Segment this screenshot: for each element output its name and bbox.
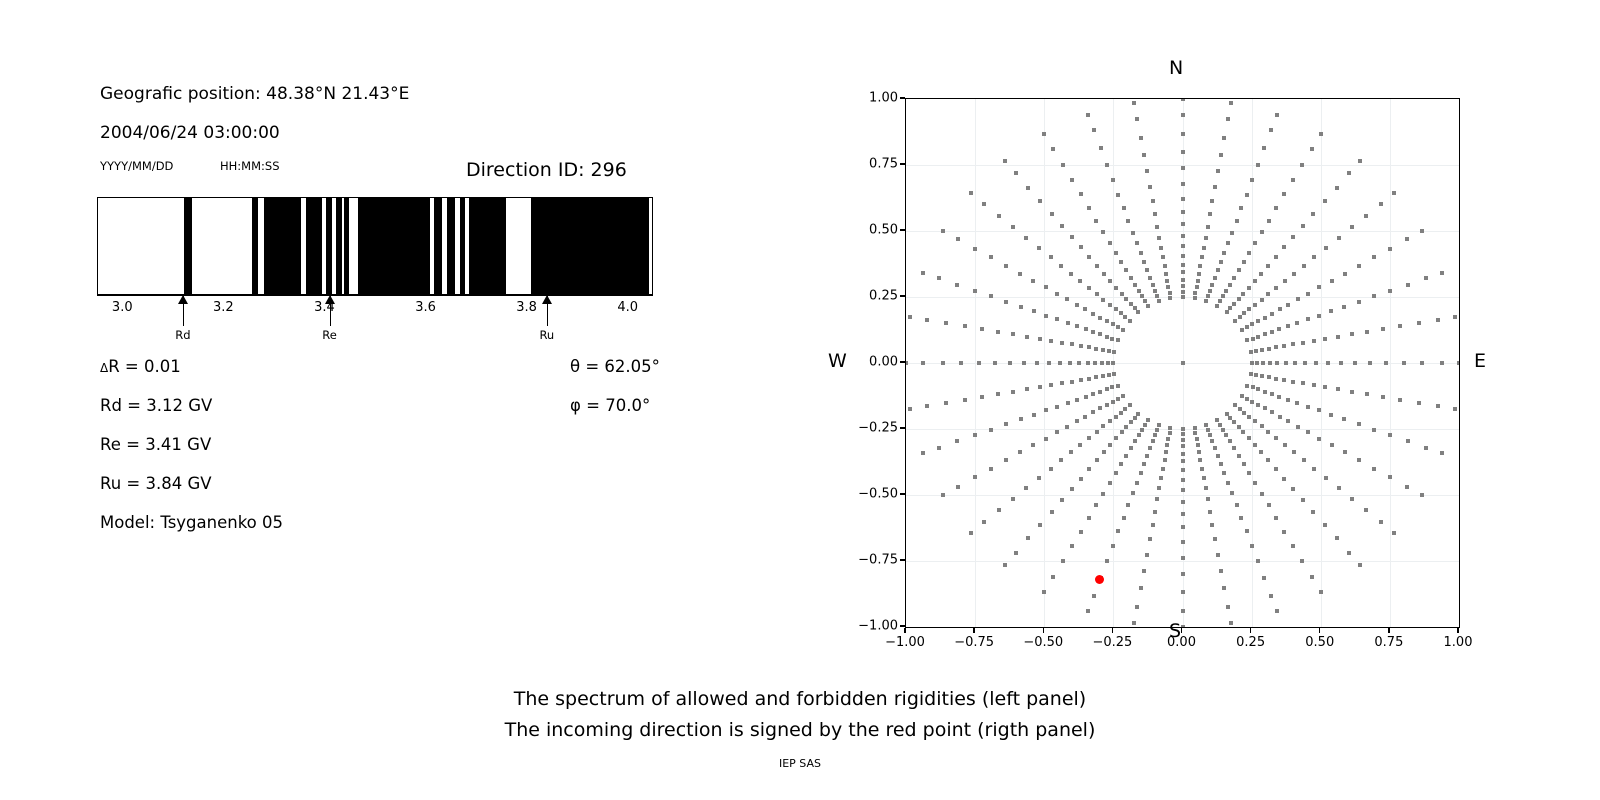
- direction-dot: [1079, 378, 1083, 382]
- direction-dot: [1277, 327, 1281, 331]
- direction-dot: [1181, 98, 1185, 101]
- direction-dot: [1086, 361, 1090, 365]
- direction-dot: [1206, 428, 1210, 432]
- x-tick-mark: [1250, 628, 1251, 633]
- y-tick-label: 1.00: [840, 91, 898, 106]
- direction-dot: [969, 531, 973, 535]
- direction-dot: [1091, 392, 1095, 396]
- direction-dot: [1216, 268, 1220, 272]
- direction-dot: [1077, 361, 1081, 365]
- direction-dot: [1218, 299, 1222, 303]
- direction-dot: [1086, 113, 1090, 117]
- direction-dot: [1221, 428, 1225, 432]
- direction-dot: [1368, 361, 1372, 365]
- direction-dot: [1181, 278, 1185, 282]
- direction-dot: [1335, 536, 1339, 540]
- direction-dot: [1181, 488, 1185, 492]
- direction-dot: [1295, 401, 1299, 405]
- direction-dot: [1042, 132, 1046, 136]
- direction-dot: [1249, 350, 1253, 354]
- direction-dot: [1032, 309, 1036, 313]
- direction-dot: [1251, 337, 1255, 341]
- direction-dot: [1235, 219, 1239, 223]
- direction-dot: [1208, 433, 1212, 437]
- direction-dot: [1114, 471, 1118, 475]
- direction-dot: [1245, 325, 1249, 329]
- direction-dot: [1065, 297, 1069, 301]
- direction-dot: [1100, 361, 1104, 365]
- direction-dot: [1059, 264, 1063, 268]
- direction-dot: [1388, 433, 1392, 437]
- direction-dot: [1116, 193, 1120, 197]
- spectrum-x-tick-label: 3.8: [516, 300, 537, 315]
- forbidden-band: [531, 198, 649, 294]
- direction-dot: [1312, 383, 1316, 387]
- direction-dot: [1218, 423, 1222, 427]
- y-tick-label: 0.25: [840, 289, 898, 304]
- x-tick-label: −0.75: [954, 635, 994, 650]
- direction-dot: [1350, 225, 1354, 229]
- direction-dot: [1306, 430, 1310, 434]
- direction-dot: [1151, 283, 1155, 287]
- direction-dot: [1032, 413, 1036, 417]
- direction-dot: [1079, 477, 1083, 481]
- direction-dot: [1148, 446, 1152, 450]
- direction-dot: [1047, 361, 1051, 365]
- direction-dot: [1098, 390, 1102, 394]
- spectrum-x-tick-label: 4.0: [617, 300, 638, 315]
- direction-dot: [1105, 387, 1109, 391]
- direction-dot: [1226, 605, 1230, 609]
- direction-dot: [1224, 289, 1228, 293]
- y-tick-label: −1.00: [840, 619, 898, 634]
- direction-dot: [1038, 523, 1042, 527]
- forbidden-band: [460, 198, 465, 294]
- direction-dot: [1242, 311, 1246, 315]
- direction-dot: [1075, 324, 1079, 328]
- direction-dot: [1306, 317, 1310, 321]
- direction-dot: [1228, 416, 1232, 420]
- direction-dot: [1286, 324, 1290, 328]
- direction-dot: [963, 398, 967, 402]
- direction-dot: [1114, 307, 1118, 311]
- compass-east-label: E: [1474, 350, 1486, 372]
- direction-dot: [1018, 272, 1022, 276]
- direction-dot: [1241, 430, 1245, 434]
- direction-dot: [1267, 347, 1271, 351]
- direction-dot: [1417, 321, 1421, 325]
- direction-dot: [1095, 458, 1099, 462]
- direction-dot: [1151, 439, 1155, 443]
- y-tick-mark: [900, 229, 905, 230]
- direction-dot: [1240, 328, 1244, 332]
- direction-dot: [1065, 425, 1069, 429]
- direction-dot: [1232, 276, 1236, 280]
- direction-dot: [1274, 436, 1278, 440]
- direction-dot: [1260, 374, 1264, 378]
- direction-dot: [1263, 332, 1267, 336]
- spectrum-bar: [97, 197, 653, 295]
- marker-arrow-rd: [178, 296, 189, 326]
- direction-dot: [905, 361, 908, 365]
- direction-dot: [1181, 210, 1185, 214]
- direction-dot: [1210, 523, 1214, 527]
- direction-dot: [1219, 462, 1223, 466]
- forbidden-band: [469, 198, 506, 294]
- direction-dot: [1302, 264, 1306, 268]
- spectrum-x-tick-label: 3.2: [213, 300, 234, 315]
- x-tick-mark: [973, 628, 974, 633]
- direction-dot: [1222, 251, 1226, 255]
- direction-dot: [1181, 113, 1185, 117]
- direction-dot: [1253, 481, 1257, 485]
- direction-dot: [1139, 251, 1143, 255]
- direction-dot: [982, 520, 986, 524]
- direction-dot: [1128, 403, 1132, 407]
- direction-dot: [1256, 559, 1260, 563]
- direction-dot: [1157, 299, 1161, 303]
- direction-dot: [1049, 383, 1053, 387]
- direction-dot: [1326, 361, 1330, 365]
- direction-dot: [1181, 478, 1185, 482]
- direction-dot: [1372, 467, 1376, 471]
- direction-dot: [1202, 246, 1206, 250]
- direction-dot: [1055, 292, 1059, 296]
- direction-dot: [1132, 101, 1136, 105]
- direction-dot: [1269, 128, 1273, 132]
- direction-dot: [1206, 225, 1210, 229]
- direction-dot: [1278, 415, 1282, 419]
- direction-dot: [1336, 335, 1340, 339]
- direction-dot: [1266, 458, 1270, 462]
- direction-dot: [1208, 289, 1212, 293]
- direction-dot: [1153, 289, 1157, 293]
- direction-dot: [1139, 136, 1143, 140]
- direction-dot: [1087, 377, 1091, 381]
- direction-dot: [1101, 492, 1105, 496]
- direction-dot: [1317, 285, 1321, 289]
- direction-dot: [1424, 276, 1428, 280]
- direction-dot: [1274, 377, 1278, 381]
- direction-dot: [1206, 294, 1210, 298]
- direction-dot: [989, 294, 993, 298]
- y-tick-mark: [900, 559, 905, 560]
- direction-dot: [963, 324, 967, 328]
- direction-dot: [1196, 279, 1200, 283]
- direction-dot: [1135, 481, 1139, 485]
- direction-dot: [1181, 572, 1185, 576]
- direction-dot: [1253, 443, 1257, 447]
- direction-dot: [1260, 348, 1264, 352]
- direction-dot: [1133, 283, 1137, 287]
- direction-dot: [1142, 462, 1146, 466]
- direction-dot: [1116, 397, 1120, 401]
- direction-dot: [973, 289, 977, 293]
- direction-dot: [1123, 315, 1127, 319]
- direction-dot: [1135, 117, 1139, 121]
- direction-dot: [1119, 462, 1123, 466]
- forbidden-band: [184, 198, 192, 294]
- direction-dot: [1213, 446, 1217, 450]
- direction-dot: [1440, 451, 1444, 455]
- direction-dot: [1323, 337, 1327, 341]
- direction-dot: [1008, 361, 1012, 365]
- direction-dot: [1164, 450, 1168, 454]
- direction-dot: [1250, 361, 1254, 365]
- direction-dot: [1357, 422, 1361, 426]
- direction-dot: [1440, 271, 1444, 275]
- direction-dot: [1159, 476, 1163, 480]
- direction-dot: [1070, 235, 1074, 239]
- direction-dot: [1181, 459, 1185, 463]
- direction-dot: [1136, 310, 1140, 314]
- direction-dot: [1181, 270, 1185, 274]
- direction-dot: [1181, 132, 1185, 136]
- direction-dot: [1124, 268, 1128, 272]
- direction-dot: [1310, 575, 1314, 579]
- direction-dot: [921, 451, 925, 455]
- direction-dot: [1275, 609, 1279, 613]
- direction-dot: [1453, 407, 1457, 411]
- x-tick-label: 0.75: [1374, 635, 1403, 650]
- direction-dot: [1135, 241, 1139, 245]
- direction-dot: [1296, 297, 1300, 301]
- direction-dot: [1106, 361, 1110, 365]
- direction-dot: [921, 271, 925, 275]
- direction-dot: [1084, 327, 1088, 331]
- y-tick-mark: [900, 97, 905, 98]
- direction-dot: [1119, 311, 1123, 315]
- direction-dot: [1024, 236, 1028, 240]
- direction-dot: [1111, 361, 1115, 365]
- forbidden-band: [358, 198, 430, 294]
- direction-dot: [1049, 255, 1053, 259]
- direction-dot: [1237, 425, 1241, 429]
- direction-dot: [1114, 436, 1118, 440]
- direction-dot: [1168, 296, 1172, 300]
- direction-dot: [1229, 101, 1233, 105]
- footer-label: IEP SAS: [0, 757, 1600, 770]
- direction-dot: [1148, 276, 1152, 280]
- forbidden-band: [344, 198, 349, 294]
- direction-dot: [1037, 246, 1041, 250]
- direction-dot: [1232, 302, 1236, 306]
- direction-dot: [1116, 338, 1120, 342]
- direction-dot: [1018, 450, 1022, 454]
- direction-dot: [1038, 385, 1042, 389]
- param-ru: Ru = 3.84 GV: [100, 474, 212, 493]
- direction-dot: [1042, 590, 1046, 594]
- direction-dot: [1253, 241, 1257, 245]
- direction-dot: [1108, 303, 1112, 307]
- direction-dot: [1210, 283, 1214, 287]
- direction-dot: [1219, 153, 1223, 157]
- direction-dot: [1181, 556, 1185, 560]
- direction-dot: [1358, 563, 1362, 567]
- direction-dot: [1181, 295, 1185, 299]
- direction-dot: [1274, 516, 1278, 520]
- direction-dot: [1206, 497, 1210, 501]
- direction-dot: [1145, 169, 1149, 173]
- x-tick-label: 1.00: [1444, 635, 1473, 650]
- direction-dot: [1405, 237, 1409, 241]
- y-tick-label: −0.75: [840, 553, 898, 568]
- direction-dot: [1070, 178, 1074, 182]
- direction-dot: [1181, 234, 1185, 238]
- direction-dot: [1061, 559, 1065, 563]
- datetime-label: 2004/06/24 03:00:00: [100, 123, 280, 143]
- direction-dot: [1093, 361, 1097, 365]
- direction-dot: [1372, 294, 1376, 298]
- direction-dot: [989, 428, 993, 432]
- direction-dot: [1078, 443, 1082, 447]
- direction-dot: [1079, 530, 1083, 534]
- direction-dot: [1319, 132, 1323, 136]
- direction-dot: [980, 395, 984, 399]
- direction-dot: [1250, 400, 1254, 404]
- direction-dot: [1270, 410, 1274, 414]
- direction-dot: [1329, 413, 1333, 417]
- direction-dot: [1108, 279, 1112, 283]
- direction-dot: [1110, 337, 1114, 341]
- y-tick-label: 0.00: [840, 355, 898, 370]
- x-tick-label: −1.00: [885, 635, 925, 650]
- direction-dot: [1070, 487, 1074, 491]
- direction-dot: [1210, 199, 1214, 203]
- marker-arrow-ru: [542, 296, 553, 326]
- direction-dot: [1237, 454, 1241, 458]
- direction-dot: [1436, 404, 1440, 408]
- direction-dot: [1208, 510, 1212, 514]
- direction-dot: [1181, 197, 1185, 201]
- direction-dot: [1228, 306, 1232, 310]
- x-tick-mark: [1457, 628, 1458, 633]
- direction-dot: [1323, 385, 1327, 389]
- compass-south-label: S: [1169, 620, 1181, 642]
- param-rd: Rd = 3.12 GV: [100, 396, 212, 415]
- direction-dot: [1282, 245, 1286, 249]
- direction-dot: [1213, 276, 1217, 280]
- direction-dot: [1181, 361, 1185, 365]
- direction-dot: [1044, 314, 1048, 318]
- direction-dot: [1286, 303, 1290, 307]
- direction-id-label: Direction ID: 296: [466, 159, 627, 181]
- direction-dot: [1250, 544, 1254, 548]
- direction-dot: [1216, 454, 1220, 458]
- direction-dot: [1124, 297, 1128, 301]
- direction-dot: [1291, 342, 1295, 346]
- direction-dot: [1075, 398, 1079, 402]
- direction-dot: [1424, 446, 1428, 450]
- direction-dot: [1216, 169, 1220, 173]
- direction-map-plot: [905, 98, 1460, 628]
- direction-dot: [1124, 425, 1128, 429]
- direction-dot: [1157, 486, 1161, 490]
- direction-dot: [1105, 319, 1109, 323]
- direction-dot: [1202, 476, 1206, 480]
- direction-dot: [1200, 255, 1204, 259]
- direction-dot: [959, 361, 963, 365]
- direction-dot: [1195, 437, 1199, 441]
- direction-dot: [1251, 385, 1255, 389]
- forbidden-band: [306, 198, 322, 294]
- direction-dot: [1091, 410, 1095, 414]
- direction-dot: [1003, 159, 1007, 163]
- direction-dot: [1247, 307, 1251, 311]
- direction-dot: [1398, 324, 1402, 328]
- direction-dot: [1204, 423, 1208, 427]
- direction-dot: [1135, 605, 1139, 609]
- direction-dot: [1343, 450, 1347, 454]
- direction-dot: [1126, 219, 1130, 223]
- direction-dot: [1111, 544, 1115, 548]
- forbidden-band: [434, 198, 442, 294]
- x-tick-label: −0.50: [1023, 635, 1063, 650]
- direction-dot: [1140, 428, 1144, 432]
- direction-dot: [1254, 349, 1258, 353]
- direction-dot: [1102, 450, 1106, 454]
- direction-dot: [1302, 458, 1306, 462]
- direction-dot: [1151, 523, 1155, 527]
- spectrum-x-tick-label: 3.0: [112, 300, 133, 315]
- direction-dot: [1058, 361, 1062, 365]
- direction-dot: [1213, 537, 1217, 541]
- direction-dot: [1256, 403, 1260, 407]
- direction-dot: [1139, 471, 1143, 475]
- direction-dot: [1066, 401, 1070, 405]
- direction-dot: [1319, 590, 1323, 594]
- direction-dot: [1274, 467, 1278, 471]
- direction-dot: [1208, 212, 1212, 216]
- direction-dot: [1237, 297, 1241, 301]
- direction-dot: [1250, 322, 1254, 326]
- direction-dot: [1101, 230, 1105, 234]
- direction-dot: [1282, 192, 1286, 196]
- direction-dot: [1457, 361, 1460, 365]
- forbidden-band: [336, 198, 342, 294]
- direction-dot: [1114, 251, 1118, 255]
- direction-dot: [1270, 330, 1274, 334]
- direction-dot: [1235, 503, 1239, 507]
- direction-dot: [1108, 443, 1112, 447]
- direction-dot: [1364, 214, 1368, 218]
- direction-dot: [1213, 185, 1217, 189]
- direction-dot: [1161, 255, 1165, 259]
- direction-dot: [1050, 212, 1054, 216]
- direction-dot: [937, 276, 941, 280]
- selected-direction-point: [1095, 575, 1104, 584]
- direction-dot: [1163, 264, 1167, 268]
- x-tick-mark: [1388, 628, 1389, 633]
- direction-dot: [1242, 411, 1246, 415]
- direction-dot: [1101, 374, 1105, 378]
- direction-dot: [1247, 286, 1251, 290]
- direction-dot: [1031, 443, 1035, 447]
- direction-dot: [1168, 431, 1172, 435]
- direction-dot: [1229, 621, 1233, 625]
- direction-dot: [944, 401, 948, 405]
- direction-dot: [1078, 279, 1082, 283]
- direction-dot: [1269, 594, 1273, 598]
- x-tick-mark: [904, 628, 905, 633]
- direction-dot: [1145, 268, 1149, 272]
- direction-dot: [1155, 294, 1159, 298]
- direction-dot: [1004, 422, 1008, 426]
- direction-dot: [1011, 497, 1015, 501]
- direction-dot: [1060, 341, 1064, 345]
- direction-dot: [1420, 229, 1424, 233]
- direction-dot: [1079, 192, 1083, 196]
